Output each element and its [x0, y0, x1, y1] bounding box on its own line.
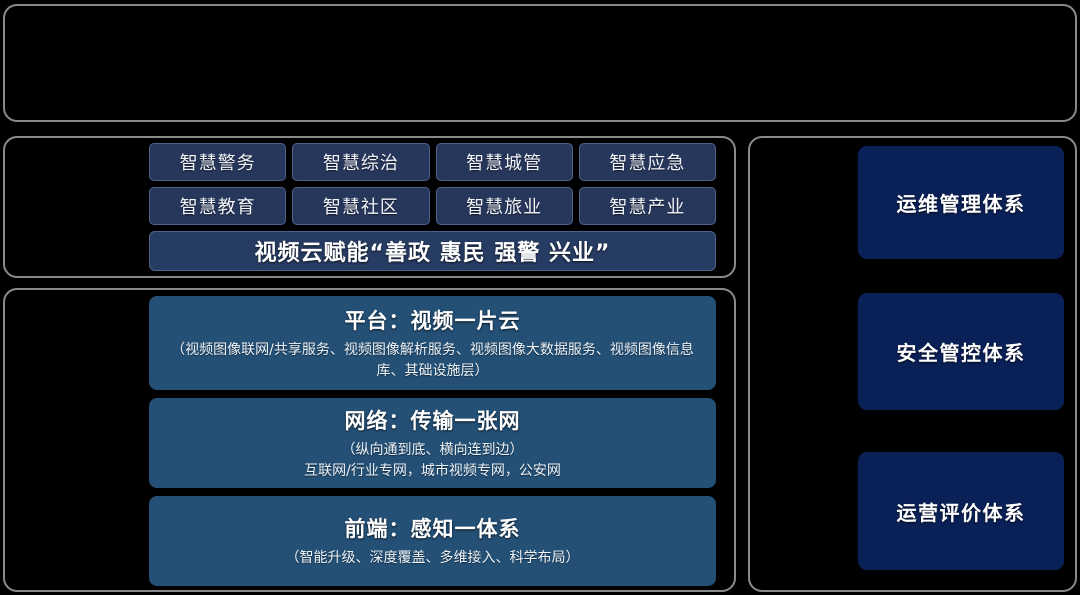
app-box-smart-industry[interactable]: 智慧产业 [579, 187, 716, 225]
layer-frontend-subtitle: （智能升级、深度覆盖、多维接入、科学布局） [286, 548, 580, 568]
app-box-label: 智慧社区 [323, 193, 399, 219]
slogan-banner-text: 视频云赋能“善政 惠民 强警 兴业” [255, 235, 611, 267]
layer-network-subtitle-2: 互联网/行业专网，城市视频专网，公安网 [304, 461, 561, 481]
pillar-label: 运维管理体系 [897, 188, 1026, 217]
layer-frontend-title: 前端：感知一体系 [345, 513, 521, 543]
app-box-label: 智慧应急 [609, 149, 685, 175]
layer-network[interactable]: 网络：传输一张网 （纵向通到底、横向连到边） 互联网/行业专网，城市视频专网，公… [149, 398, 716, 488]
layer-platform-title: 平台：视频一片云 [345, 305, 521, 335]
pillar-security-control[interactable]: 安全管控体系 [858, 293, 1064, 410]
diagram-canvas: 智慧警务 智慧综治 智慧城管 智慧应急 智慧教育 智慧社区 智慧旅业 智慧产业 … [0, 0, 1080, 595]
app-box-label: 智慧教育 [180, 193, 256, 219]
app-box-smart-urban-management[interactable]: 智慧城管 [436, 143, 573, 181]
layer-frontend[interactable]: 前端：感知一体系 （智能升级、深度覆盖、多维接入、科学布局） [149, 496, 716, 586]
layer-platform[interactable]: 平台：视频一片云 （视频图像联网/共享服务、视频图像解析服务、视频图像大数据服务… [149, 296, 716, 390]
layer-platform-subtitle: （视频图像联网/共享服务、视频图像解析服务、视频图像大数据服务、视频图像信息库、… [165, 340, 700, 381]
pillar-label: 安全管控体系 [897, 337, 1026, 366]
layer-network-subtitle: （纵向通到底、横向连到边） [342, 440, 524, 460]
app-box-smart-governance[interactable]: 智慧综治 [292, 143, 429, 181]
app-box-label: 智慧城管 [466, 149, 542, 175]
app-box-smart-police[interactable]: 智慧警务 [149, 143, 286, 181]
slogan-banner: 视频云赋能“善政 惠民 强警 兴业” [149, 231, 716, 271]
app-box-smart-tourism[interactable]: 智慧旅业 [436, 187, 573, 225]
app-box-smart-education[interactable]: 智慧教育 [149, 187, 286, 225]
layer-network-title: 网络：传输一张网 [345, 405, 521, 435]
pillar-operation-evaluation[interactable]: 运营评价体系 [858, 452, 1064, 570]
app-box-label: 智慧警务 [180, 149, 256, 175]
pillar-label: 运营评价体系 [897, 497, 1026, 526]
app-box-smart-community[interactable]: 智慧社区 [292, 187, 429, 225]
app-box-label: 智慧综治 [323, 149, 399, 175]
top-empty-panel [3, 4, 1077, 122]
app-box-label: 智慧产业 [609, 193, 685, 219]
application-grid: 智慧警务 智慧综治 智慧城管 智慧应急 智慧教育 智慧社区 智慧旅业 智慧产业 [149, 143, 716, 225]
app-box-label: 智慧旅业 [466, 193, 542, 219]
app-box-smart-emergency[interactable]: 智慧应急 [579, 143, 716, 181]
pillar-operations-management[interactable]: 运维管理体系 [858, 146, 1064, 259]
